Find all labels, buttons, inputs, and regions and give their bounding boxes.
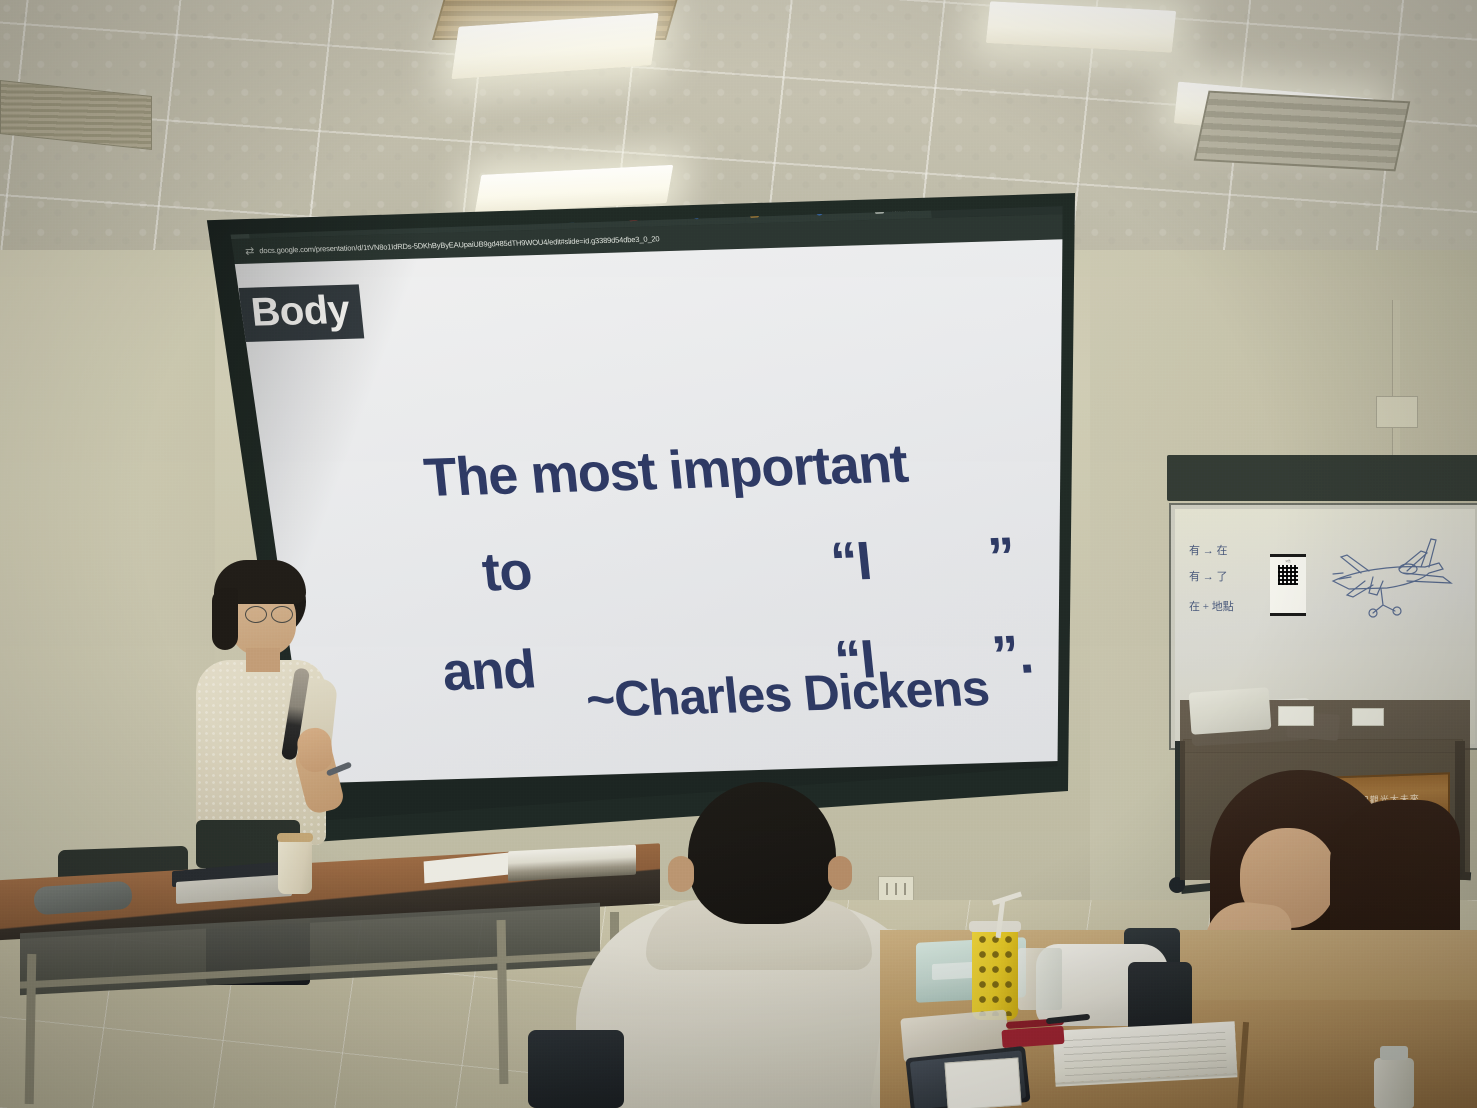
whiteboard-note-1: 有 → 在 [1189, 545, 1228, 557]
slide-section-label: Body [239, 284, 365, 342]
glasses-icon [245, 606, 295, 621]
notebook-card [944, 1057, 1021, 1108]
ceiling-duct-icon [1194, 91, 1411, 172]
student-front-ear [828, 856, 852, 890]
quote-line-3-pre: and [439, 639, 538, 702]
whiteboard-qr-poster: 公告 [1270, 554, 1306, 616]
quote-attribution: ~Charles Dickens [583, 659, 991, 729]
qr-poster-heading: 公告 [1285, 560, 1290, 563]
worksheets [1053, 1021, 1237, 1082]
quote-line-3-close: ”. [989, 624, 1035, 685]
paper-tag [1352, 708, 1384, 726]
student-front [570, 782, 930, 1108]
presenter-side-hair [212, 588, 238, 650]
paper-tag [1278, 706, 1314, 726]
whiteboard-top-rail [1167, 455, 1477, 501]
bottle-cap-icon [1380, 1046, 1408, 1060]
site-info-icon[interactable]: ⇄ [245, 244, 256, 257]
presenter-neck [246, 648, 280, 672]
wall-conduit [1392, 300, 1400, 460]
chair [528, 1030, 624, 1108]
whiteboard-note-3: 在 + 地點 [1189, 601, 1234, 613]
classroom-photo: ⌄ 20250421 × Disappear × 113K B4 L1 × [0, 0, 1477, 1108]
airplane-sketch-icon [1303, 533, 1463, 623]
storage-box [1189, 687, 1272, 734]
wall-junction-box [1376, 396, 1418, 428]
student-front-ear [668, 856, 694, 892]
clear-cup [1018, 948, 1062, 1010]
yellow-drink-cup [972, 928, 1018, 1020]
qr-code-icon [1278, 565, 1298, 585]
water-bottle [1374, 1058, 1414, 1108]
student-front-head [688, 782, 836, 924]
whiteboard-note-2: 有 → 了 [1189, 571, 1228, 583]
coffee-cup [278, 838, 312, 894]
